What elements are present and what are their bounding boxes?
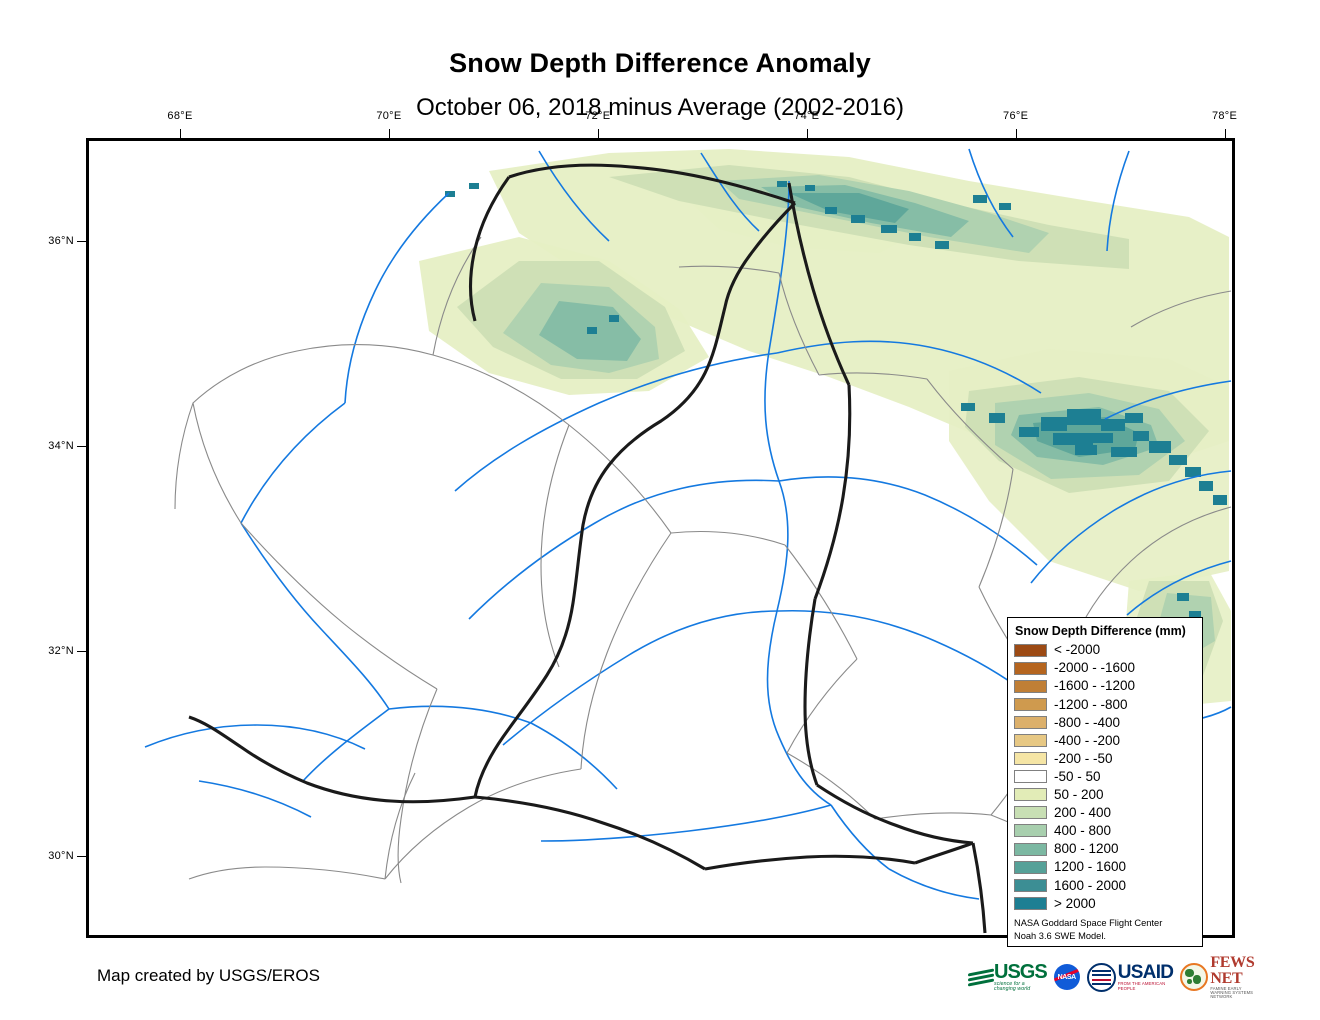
legend-row: 200 - 400	[1014, 804, 1196, 822]
lon-tick	[1016, 129, 1017, 138]
lon-tick	[807, 129, 808, 138]
legend-label: -1600 - -1200	[1054, 679, 1135, 693]
legend-swatch	[1014, 698, 1047, 711]
legend-label: 50 - 200	[1054, 788, 1104, 802]
legend-swatch	[1014, 806, 1047, 819]
usgs-tagline: science for a changing world	[994, 982, 1047, 992]
legend-class-list: < -2000-2000 - -1600-1600 - -1200-1200 -…	[1014, 641, 1196, 912]
legend-swatch	[1014, 770, 1047, 783]
nasa-meatball-icon: NASA	[1054, 964, 1080, 990]
lon-tick-label: 68°E	[167, 110, 192, 122]
legend-label: 1200 - 1600	[1054, 860, 1126, 874]
lat-tick-label: 32°N	[48, 645, 74, 657]
lat-tick	[77, 856, 86, 857]
legend-swatch	[1014, 752, 1047, 765]
map-legend[interactable]: Snow Depth Difference (mm) < -2000-2000 …	[1007, 617, 1203, 947]
legend-swatch	[1014, 861, 1047, 874]
lat-tick	[77, 651, 86, 652]
lon-tick	[598, 129, 599, 138]
legend-note-line-1: NASA Goddard Space Flight Center	[1014, 917, 1196, 929]
legend-label: > 2000	[1054, 897, 1096, 911]
legend-row: -50 - 50	[1014, 768, 1196, 786]
legend-swatch	[1014, 788, 1047, 801]
page-title: Snow Depth Difference Anomaly	[0, 48, 1320, 79]
legend-swatch	[1014, 843, 1047, 856]
legend-label: 1600 - 2000	[1054, 879, 1126, 893]
usgs-logo: USGS science for a changing world	[968, 960, 1047, 994]
legend-row: -1200 - -800	[1014, 695, 1196, 713]
legend-label: 200 - 400	[1054, 806, 1111, 820]
logo-strip: USGS science for a changing world NASA U…	[968, 958, 1218, 996]
usaid-tagline: FROM THE AMERICAN PEOPLE	[1118, 982, 1174, 991]
legend-label: -2000 - -1600	[1054, 661, 1135, 675]
legend-row: > 2000	[1014, 894, 1196, 912]
legend-source-note: NASA Goddard Space Flight Center Noah 3.…	[1014, 917, 1196, 942]
legend-label: -200 - -50	[1054, 752, 1113, 766]
legend-note-line-2: Noah 3.6 SWE Model.	[1014, 930, 1196, 942]
legend-swatch	[1014, 824, 1047, 837]
usaid-logo: USAID FROM THE AMERICAN PEOPLE	[1087, 960, 1174, 994]
legend-swatch	[1014, 662, 1047, 675]
page-subtitle: October 06, 2018 minus Average (2002-201…	[0, 94, 1320, 122]
legend-label: 400 - 800	[1054, 824, 1111, 838]
legend-label: < -2000	[1054, 643, 1100, 657]
fewsnet-globe-icon	[1180, 963, 1208, 991]
lon-tick-label: 76°E	[1003, 110, 1028, 122]
lat-tick-label: 30°N	[48, 850, 74, 862]
fewsnet-wordmark: FEWS NET	[1210, 955, 1254, 987]
legend-row: -2000 - -1600	[1014, 659, 1196, 677]
lon-tick-label: 72°E	[585, 110, 610, 122]
legend-row: -200 - -50	[1014, 750, 1196, 768]
legend-row: 1600 - 2000	[1014, 876, 1196, 894]
fewsnet-logo: FEWS NET FAMINE EARLY WARNING SYSTEMS NE…	[1180, 960, 1254, 994]
legend-label: -1200 - -800	[1054, 698, 1128, 712]
legend-label: 800 - 1200	[1054, 842, 1119, 856]
lon-tick	[389, 129, 390, 138]
fewsnet-tagline: FAMINE EARLY WARNING SYSTEMS NETWORK	[1210, 987, 1254, 1000]
lon-tick-label: 70°E	[376, 110, 401, 122]
legend-row: -800 - -400	[1014, 713, 1196, 731]
usgs-wave-icon	[968, 968, 994, 987]
usaid-wordmark: USAID	[1118, 963, 1174, 982]
legend-title: Snow Depth Difference (mm)	[1015, 624, 1196, 638]
legend-label: -400 - -200	[1054, 734, 1120, 748]
lat-tick	[77, 446, 86, 447]
lat-tick-label: 36°N	[48, 235, 74, 247]
map-credit: Map created by USGS/EROS	[97, 966, 320, 986]
lat-tick	[77, 241, 86, 242]
legend-label: -50 - 50	[1054, 770, 1101, 784]
legend-swatch	[1014, 897, 1047, 910]
legend-swatch	[1014, 644, 1047, 657]
legend-swatch	[1014, 680, 1047, 693]
lon-tick	[1225, 129, 1226, 138]
lon-tick-label: 78°E	[1212, 110, 1237, 122]
legend-row: -1600 - -1200	[1014, 677, 1196, 695]
legend-label: -800 - -400	[1054, 716, 1120, 730]
lon-tick-label: 74°E	[794, 110, 819, 122]
lat-tick-label: 34°N	[48, 440, 74, 452]
legend-swatch	[1014, 716, 1047, 729]
legend-swatch	[1014, 879, 1047, 892]
legend-row: 800 - 1200	[1014, 840, 1196, 858]
nasa-wordmark: NASA	[1054, 964, 1080, 990]
usaid-seal-icon	[1087, 963, 1116, 992]
legend-row: 50 - 200	[1014, 786, 1196, 804]
legend-row: -400 - -200	[1014, 731, 1196, 749]
legend-row: 1200 - 1600	[1014, 858, 1196, 876]
legend-row: 400 - 800	[1014, 822, 1196, 840]
legend-swatch	[1014, 734, 1047, 747]
usgs-wordmark: USGS	[994, 962, 1047, 982]
nasa-logo: NASA	[1054, 960, 1080, 994]
legend-row: < -2000	[1014, 641, 1196, 659]
lon-tick	[180, 129, 181, 138]
